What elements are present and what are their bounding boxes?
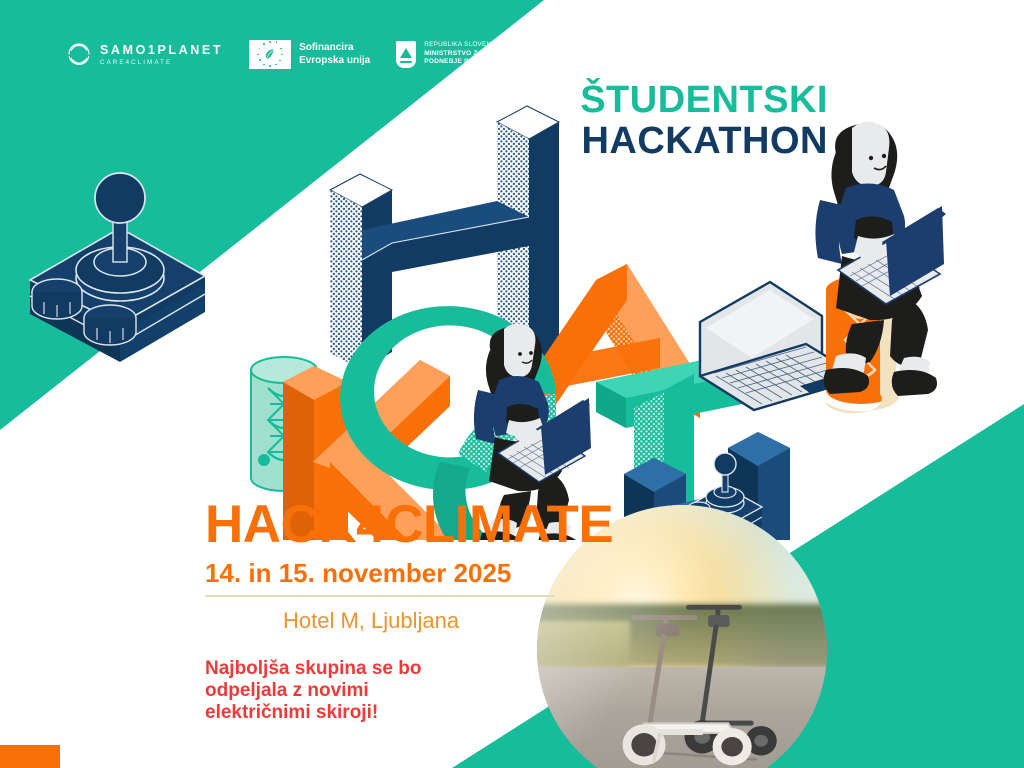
prize-note-line2: odpeljala z novimi [205, 680, 625, 702]
title-divider [205, 595, 555, 597]
logo-samo1planet-tagline: CARE4CLIMATE [100, 59, 223, 67]
prize-note-line3: električnimi skiroji! [205, 702, 625, 724]
poster-root: SAMO1PLANET CARE4CLIMATE [0, 0, 1024, 768]
eu-leaf-icon [263, 47, 277, 61]
logo-eu-caption: Sofinancira Evropska unija [299, 41, 370, 68]
logo-european-union: Sofinancira Evropska unija [249, 40, 370, 69]
prize-note-line1: Najboljša skupina se bo [205, 658, 625, 680]
event-venue: Hotel M, Ljubljana [283, 610, 625, 632]
crest-mountain [400, 48, 412, 58]
logo-samo1planet: SAMO1PLANET CARE4CLIMATE [66, 41, 223, 67]
logo-eu-line1: Sofinancira [299, 41, 370, 55]
sponsor-logo-bar: SAMO1PLANET CARE4CLIMATE [66, 34, 515, 74]
slovenia-coat-of-arms-icon [396, 41, 416, 68]
headline-line-studentski: ŠTUDENTSKI [580, 80, 828, 121]
logo-ministry-line2: MINISTRSTVO ZA OKOLJE, [424, 50, 515, 59]
crest-wave [400, 61, 412, 63]
logo-ministry-text: REPUBLIKA SLOVENIJA MINISTRSTVO ZA OKOLJ… [424, 41, 515, 66]
logo-samo1planet-name: SAMO1PLANET [100, 43, 223, 57]
logo-samo1planet-text: SAMO1PLANET CARE4CLIMATE [100, 41, 223, 67]
logo-ministry-line1: REPUBLIKA SLOVENIJA [424, 41, 515, 49]
fingerprint-icon [66, 41, 92, 67]
logo-eu-line2: Evropska unija [299, 54, 370, 68]
title-block: HACK4CLIMATE 14. in 15. november 2025 Ho… [205, 498, 625, 724]
logo-ministry: REPUBLIKA SLOVENIJA MINISTRSTVO ZA OKOLJ… [396, 41, 515, 68]
event-date: 14. in 15. november 2025 [205, 560, 625, 586]
event-title: HACK4CLIMATE [205, 498, 625, 551]
prize-note: Najboljša skupina se bo odpeljala z novi… [205, 658, 625, 724]
headline: ŠTUDENTSKI HACKATHON [580, 80, 828, 162]
logo-ministry-line3: PODNEBJE IN ENERGIJO [424, 58, 515, 67]
headline-line-hackathon: HACKATHON [580, 121, 828, 162]
eu-flag-icon [249, 40, 291, 69]
